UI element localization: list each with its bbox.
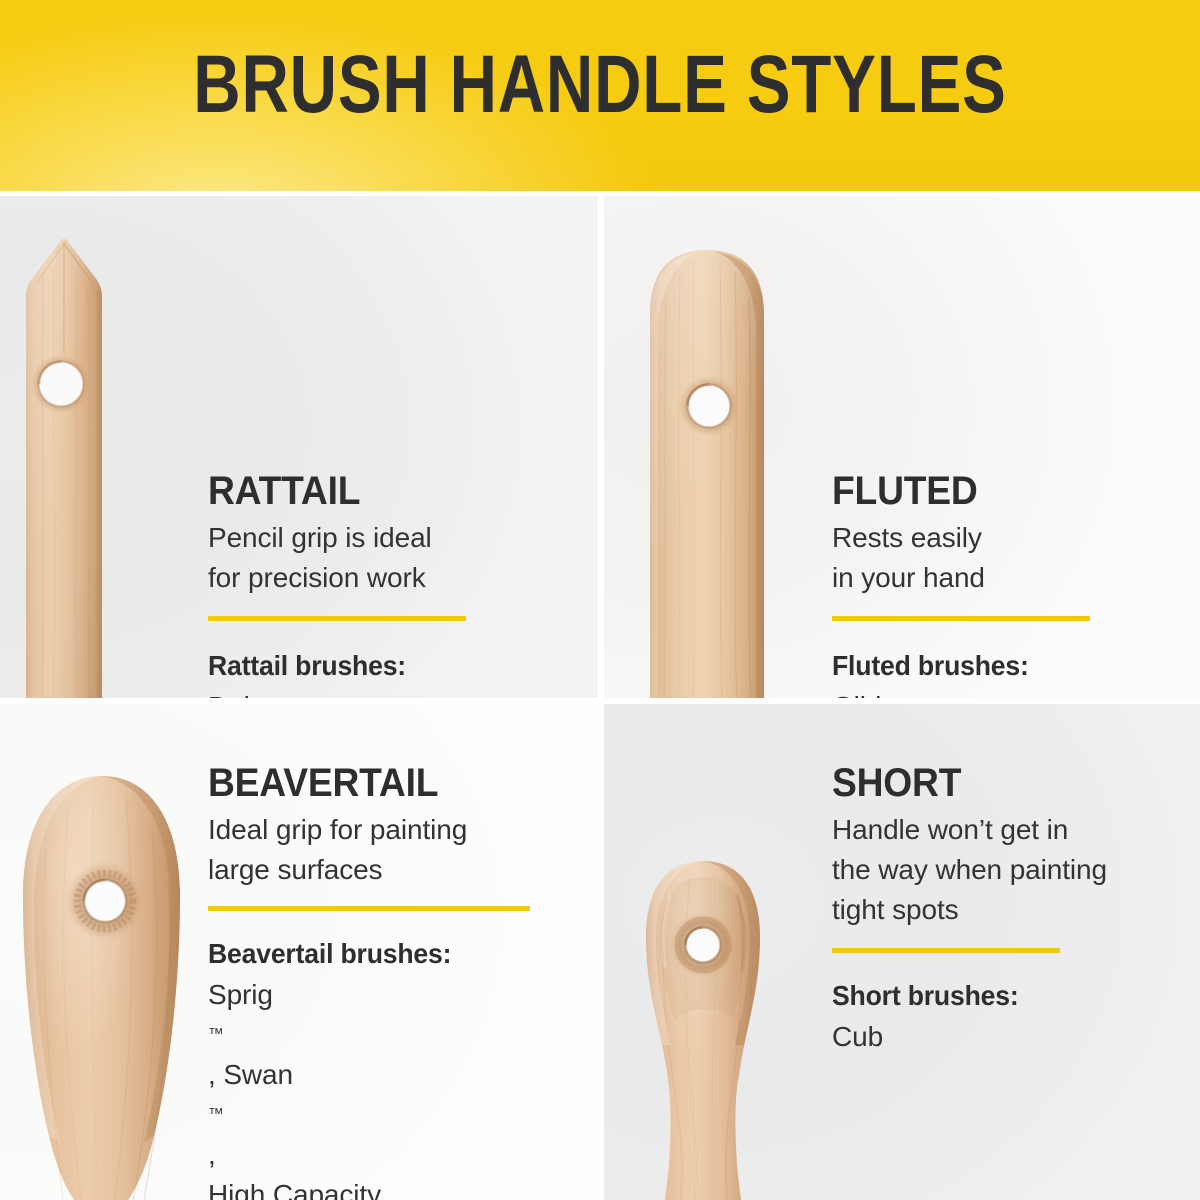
infographic-page: BRUSH HANDLE STYLES bbox=[0, 0, 1200, 1200]
desc-line: large surfaces bbox=[208, 850, 598, 890]
divider-rule bbox=[832, 948, 1060, 953]
text-block-beavertail: BEAVERTAIL Ideal grip for painting large… bbox=[208, 762, 598, 1200]
style-description-short: Handle won’t get in the way when paintin… bbox=[832, 810, 1192, 930]
desc-line: Handle won’t get in bbox=[832, 810, 1192, 850]
style-description-fluted: Rests easily in your hand bbox=[832, 518, 1192, 598]
brushes-label-rattail: Rattail brushes: bbox=[208, 649, 569, 683]
header-banner: BRUSH HANDLE STYLES bbox=[0, 0, 1200, 191]
desc-line: in your hand bbox=[832, 558, 1192, 598]
divider-rule bbox=[208, 616, 466, 621]
style-name-short: SHORT bbox=[832, 762, 1167, 804]
brushes-list-rattail: Dale™, Adjutant™ bbox=[208, 687, 588, 698]
short-handle-icon bbox=[634, 855, 784, 1200]
brushes-line: Cub bbox=[832, 1017, 1192, 1057]
beavertail-handle-icon bbox=[2, 770, 202, 1200]
desc-line: Rests easily bbox=[832, 518, 1192, 558]
trademark-symbol: ™ bbox=[208, 1015, 598, 1055]
text-block-short: SHORT Handle won’t get in the way when p… bbox=[832, 762, 1192, 1057]
text-block-fluted: FLUTED Rests easily in your hand Fluted … bbox=[832, 470, 1192, 698]
style-name-beavertail: BEAVERTAIL bbox=[208, 762, 571, 804]
style-name-fluted: FLUTED bbox=[832, 470, 1167, 512]
panel-fluted: FLUTED Rests easily in your hand Fluted … bbox=[604, 196, 1200, 698]
text-block-rattail: RATTAIL Pencil grip is ideal for precisi… bbox=[208, 470, 588, 698]
panel-short: SHORT Handle won’t get in the way when p… bbox=[604, 704, 1200, 1200]
brushes-list-fluted: Glide™, Bow™, Extra Oregon™ bbox=[832, 687, 1192, 698]
brushes-list-beavertail: Sprig™, Swan™, High Capacity bbox=[208, 975, 598, 1200]
brushes-label-short: Short brushes: bbox=[832, 979, 1174, 1013]
brushes-label-fluted: Fluted brushes: bbox=[832, 649, 1174, 683]
desc-line: for precision work bbox=[208, 558, 588, 598]
brushes-line: Sprig™, Swan™, bbox=[208, 975, 598, 1175]
brushes-line: Glide™, Bow™, bbox=[832, 687, 1192, 698]
vertical-divider bbox=[598, 191, 604, 1200]
panel-rattail: RATTAIL Pencil grip is ideal for precisi… bbox=[0, 196, 598, 698]
horizontal-divider bbox=[0, 698, 1200, 704]
fluted-handle-icon bbox=[636, 240, 801, 698]
brushes-line: Dale™, Adjutant™ bbox=[208, 687, 588, 698]
style-name-rattail: RATTAIL bbox=[208, 470, 561, 512]
page-title: BRUSH HANDLE STYLES bbox=[120, 44, 1080, 126]
desc-line: Pencil grip is ideal bbox=[208, 518, 588, 558]
trademark-symbol: ™ bbox=[208, 1095, 598, 1135]
style-description-beavertail: Ideal grip for painting large surfaces bbox=[208, 810, 598, 890]
brushes-line: High Capacity bbox=[208, 1175, 598, 1200]
panel-beavertail: BEAVERTAIL Ideal grip for painting large… bbox=[0, 704, 598, 1200]
divider-rule bbox=[208, 906, 530, 911]
brushes-label-beavertail: Beavertail brushes: bbox=[208, 937, 579, 971]
desc-line: the way when painting bbox=[832, 850, 1192, 890]
desc-line: tight spots bbox=[832, 890, 1192, 930]
style-description-rattail: Pencil grip is ideal for precision work bbox=[208, 518, 588, 598]
brushes-list-short: Cub bbox=[832, 1017, 1192, 1057]
desc-line: Ideal grip for painting bbox=[208, 810, 598, 850]
rattail-handle-icon bbox=[13, 236, 133, 698]
divider-rule bbox=[832, 616, 1090, 621]
